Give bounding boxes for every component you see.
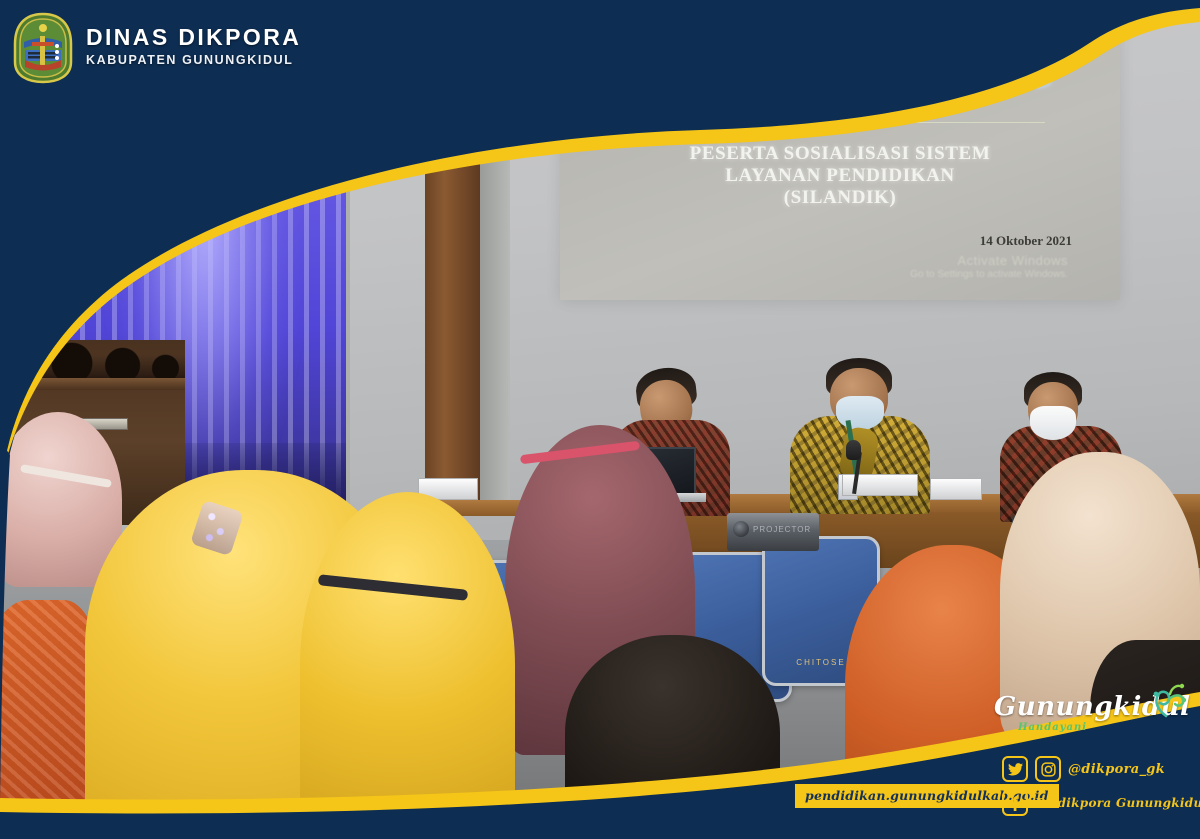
projection-screen: SELAMAT DATANG ⁊ PESERTA SOSIALISASI SIS… [560,0,1120,300]
watermark-line-1: Activate Windows [590,253,1068,268]
twitter-icon[interactable] [1002,756,1028,782]
brand-flourish-icon [1144,680,1188,720]
slide-ornament-divider: ⁊ [635,111,1045,133]
slide-subtitle-line-2: LAYANAN PENDIDIKAN [590,165,1090,187]
ornament-line-right [855,122,1045,123]
curtain-rod-finial-right [366,96,382,112]
gunungkidul-brand-lockup: Gunungkidul Handayani [994,694,1190,733]
facebook-page-name[interactable]: Disdikpora Gunungkidul [1035,796,1200,810]
podium-carving [0,338,185,380]
ornament-glyph-icon: ⁊ [835,111,846,133]
projector-lens [733,521,749,537]
microphone-head [846,440,861,460]
windows-activation-watermark: Activate Windows Go to Settings to activ… [590,253,1068,282]
slide-subtitle-line-3: (SILANDIK) [590,187,1090,209]
audience-member-yellow-hijab-2 [300,492,515,839]
curtain-rod-finial-left [24,96,40,112]
poster-canvas: SELAMAT DATANG ⁊ PESERTA SOSIALISASI SIS… [0,0,1200,839]
gunungkidul-regency-crest-icon [12,12,74,84]
facebook-icon[interactable] [1002,790,1028,816]
brand-tagline: Handayani [1018,722,1190,733]
org-subtitle: KABUPATEN GUNUNGKIDUL [86,53,301,67]
org-name: DINAS DIKPORA [86,25,301,50]
projector-brand-label: PROJECTOR [753,525,811,534]
speaker-center-face-mask [836,396,884,430]
wooden-pillar [425,40,480,510]
instagram-icon[interactable] [1035,756,1061,782]
wall-column [480,40,510,510]
instagram-handle[interactable]: @dikpora_gk [1068,762,1165,777]
social-media-links: @dikpora_gk Disdikpora Gunungkidul [1002,756,1192,824]
audience-member-dark-hair [565,635,780,839]
speaker-right-face-mask [1030,406,1076,440]
slide-title: SELAMAT DATANG [590,52,1090,97]
chair-brand-label: CHITOSE [796,658,845,667]
watermark-line-2: Go to Settings to activate Windows. [590,268,1068,282]
social-row-top: @dikpora_gk [1002,756,1192,782]
ornament-line-left [635,122,825,123]
social-row-bottom: Disdikpora Gunungkidul [1002,790,1192,816]
slide-subtitle-line-1: PESERTA SOSIALISASI SISTEM [590,143,1090,165]
curtain-valance [64,116,346,142]
projector: PROJECTOR [727,513,819,551]
name-plate-right [930,478,982,500]
poster-header: DINAS DIKPORA KABUPATEN GUNUNGKIDUL [0,0,520,96]
slide-date: 14 Oktober 2021 [590,233,1072,249]
curtain-rod [38,100,368,108]
podium-top [0,378,185,390]
